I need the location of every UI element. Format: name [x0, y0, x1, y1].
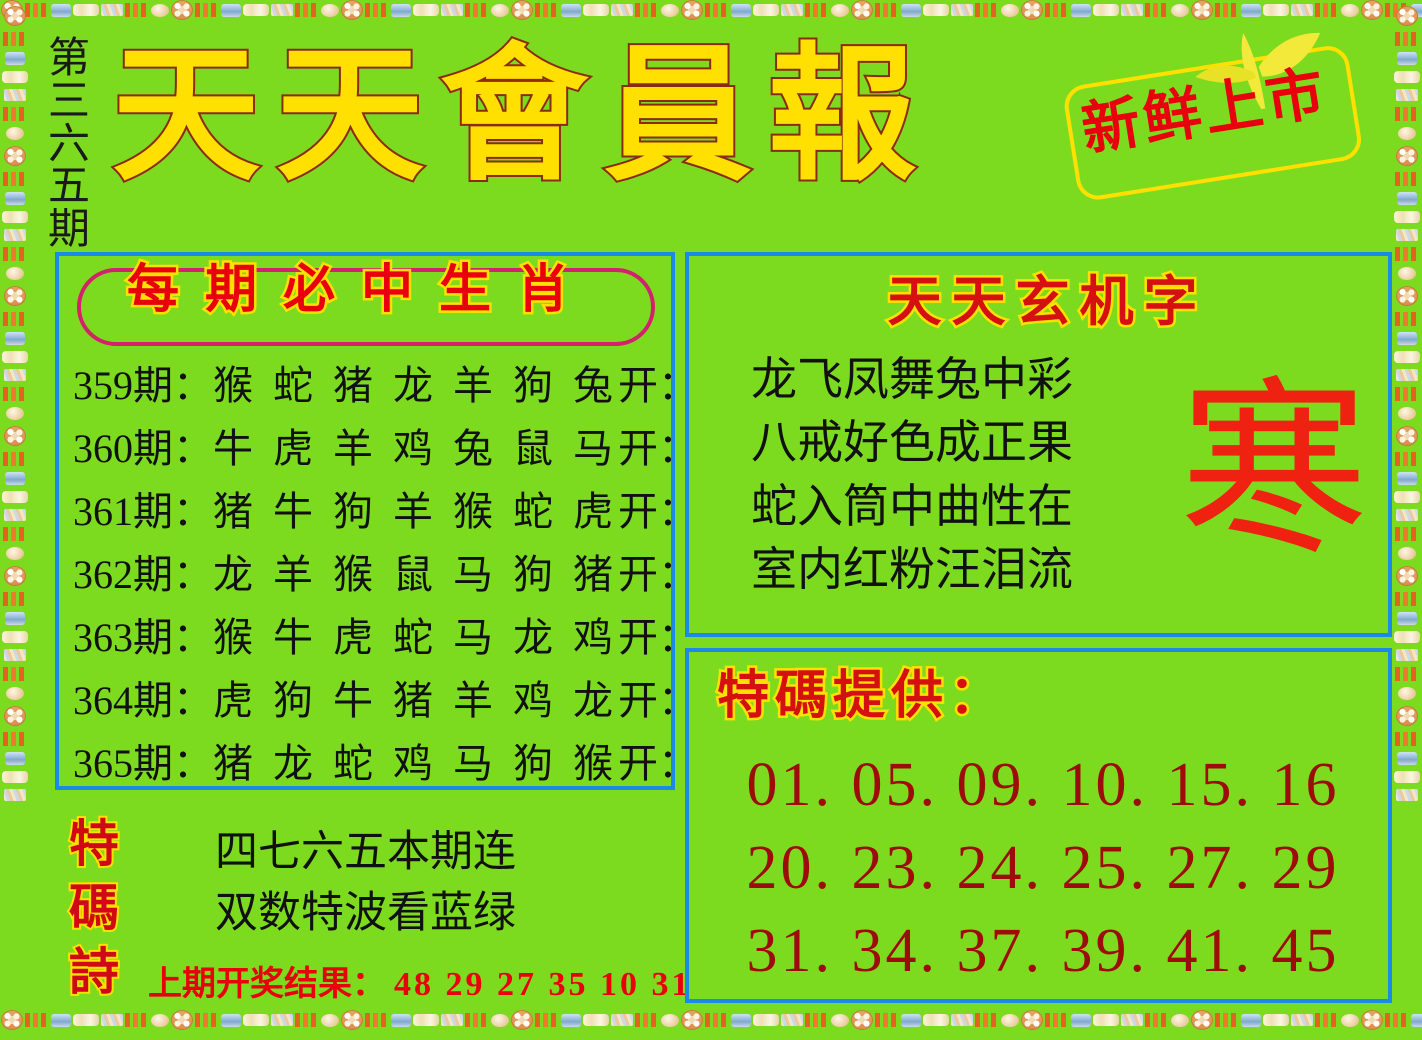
zodiac-row: 361期：猪 牛 狗 羊 猴 蛇 虎 开：	[73, 480, 667, 543]
border-bead	[1291, 4, 1313, 16]
border-bead	[851, 0, 873, 20]
border-bead	[1396, 706, 1418, 726]
last-draw-result-label: 上期开奖结果：	[148, 966, 386, 1003]
zodiac-row-animals: 虎 狗 牛 猪 羊 鸡 龙	[213, 669, 618, 732]
border-bead	[661, 4, 679, 17]
border-bead	[4, 6, 26, 26]
border-bead	[1396, 146, 1418, 166]
border-bead	[1394, 491, 1420, 503]
border-bead	[4, 229, 26, 241]
border-bead	[1001, 4, 1019, 17]
border-bead	[1045, 3, 1069, 17]
poem-label-char-2: 詩	[58, 940, 130, 1004]
border-bead	[901, 1014, 921, 1027]
poem-label-char-0: 特	[58, 812, 130, 876]
border-bead	[561, 1014, 581, 1027]
border-bead	[1398, 407, 1416, 420]
border-bead	[1395, 32, 1419, 46]
special-number-row: 01. 05. 09. 10. 15. 16	[713, 744, 1373, 827]
zodiac-row: 364期：虎 狗 牛 猪 羊 鸡 龙 开：	[73, 669, 667, 732]
border-bead	[1121, 1014, 1143, 1026]
border-bead	[2, 631, 28, 643]
zodiac-row-animals: 牛 虎 羊 鸡 兔 鼠 马	[213, 417, 618, 480]
border-bead	[5, 52, 25, 65]
border-bead	[1396, 286, 1418, 306]
border-bead	[1398, 547, 1416, 560]
riddle-line: 室内红粉汪泪流	[751, 538, 1171, 601]
border-bead	[901, 4, 921, 17]
border-bead	[1045, 1013, 1069, 1027]
border-bead	[125, 1013, 149, 1027]
border-bead	[1395, 592, 1419, 606]
border-bead	[2, 71, 28, 83]
border-bead	[51, 4, 71, 17]
border-bead	[1263, 4, 1289, 16]
border-bead	[1397, 612, 1417, 625]
border-bead	[635, 1013, 659, 1027]
special-numbers-list: 01. 05. 09. 10. 15. 16 20. 23. 24. 25. 2…	[713, 744, 1373, 993]
border-bead	[2, 351, 28, 363]
border-bead	[1361, 1010, 1383, 1030]
border-bead	[365, 1013, 389, 1027]
border-bead	[341, 1010, 363, 1030]
zodiac-row-animals: 猴 牛 虎 蛇 马 龙 鸡	[213, 606, 618, 669]
zodiac-row-issue: 361期：	[73, 480, 213, 543]
border-bead	[3, 732, 27, 746]
border-bead	[1396, 649, 1418, 661]
border-bead	[1171, 4, 1189, 17]
border-bead	[1191, 1010, 1213, 1030]
border-bead	[1241, 4, 1261, 17]
border-bead	[731, 4, 751, 17]
poster-header: 第 三 六 五 期 天天會員報 新鲜上市	[30, 30, 1392, 245]
border-bead	[6, 267, 24, 280]
border-bead	[5, 472, 25, 485]
border-bead	[171, 1010, 193, 1030]
border-bead	[681, 0, 703, 20]
riddle-line: 龙飞凤舞兔中彩	[751, 348, 1171, 411]
border-bead	[1396, 229, 1418, 241]
border-bead	[705, 1013, 729, 1027]
border-bead	[5, 752, 25, 765]
border-bead	[1145, 3, 1169, 17]
lucky-line: 双数特波看蓝绿	[215, 883, 685, 944]
zodiac-panel-title: 每期必中生肖	[59, 264, 637, 316]
poem-label-char-1: 碼	[58, 876, 130, 940]
border-bead	[3, 527, 27, 541]
border-bead	[321, 1014, 339, 1027]
border-bead	[1395, 732, 1419, 746]
border-bead	[6, 127, 24, 140]
decorative-border-top	[0, 0, 1422, 30]
border-bead	[221, 1014, 241, 1027]
border-bead	[1171, 1014, 1189, 1027]
zodiac-panel: 每期必中生肖 359期：猴 蛇 猪 龙 羊 狗 兔 开： 360期：牛 虎 羊 …	[55, 252, 675, 790]
border-bead	[6, 407, 24, 420]
border-bead	[1396, 89, 1418, 101]
zodiac-row-animals: 猴 蛇 猪 龙 羊 狗 兔	[213, 354, 618, 417]
issue-char-3: 五	[42, 166, 96, 209]
border-bead	[1398, 687, 1416, 700]
border-bead	[1396, 369, 1418, 381]
border-bead	[1394, 211, 1420, 223]
border-bead	[491, 4, 509, 17]
border-bead	[561, 4, 581, 17]
border-bead	[221, 4, 241, 17]
border-bead	[151, 4, 169, 17]
border-bead	[1315, 3, 1339, 17]
border-bead	[781, 1014, 803, 1026]
border-bead	[3, 452, 27, 466]
zodiac-row-issue: 365期：	[73, 732, 213, 795]
decorative-border-right	[1392, 0, 1422, 1040]
border-bead	[4, 89, 26, 101]
border-bead	[1395, 312, 1419, 326]
border-bead	[151, 1014, 169, 1027]
border-bead	[101, 4, 123, 16]
special-poem-label-vertical: 特 碼 詩	[58, 812, 130, 1004]
border-bead	[535, 1013, 559, 1027]
border-bead	[4, 789, 26, 801]
special-number-row: 31. 34. 37. 39. 41. 45	[713, 910, 1373, 993]
border-bead	[1398, 127, 1416, 140]
border-bead	[4, 649, 26, 661]
border-bead	[511, 1010, 533, 1030]
border-bead	[195, 3, 219, 17]
zodiac-row-list: 359期：猴 蛇 猪 龙 羊 狗 兔 开： 360期：牛 虎 羊 鸡 兔 鼠 马…	[73, 354, 667, 795]
border-bead	[365, 3, 389, 17]
border-bead	[805, 3, 829, 17]
border-bead	[611, 1014, 633, 1026]
border-bead	[1001, 1014, 1019, 1027]
border-bead	[875, 1013, 899, 1027]
border-bead	[1395, 107, 1419, 121]
lucky-line: 四七六五本期连	[215, 822, 685, 883]
border-bead	[1396, 426, 1418, 446]
zodiac-row-issue: 363期：	[73, 606, 213, 669]
border-bead	[4, 146, 26, 166]
border-bead	[5, 332, 25, 345]
zodiac-row-issue: 364期：	[73, 669, 213, 732]
decorative-border-left	[0, 0, 30, 1040]
border-bead	[295, 1013, 319, 1027]
border-bead	[6, 687, 24, 700]
border-bead	[611, 4, 633, 16]
border-bead	[1071, 4, 1091, 17]
riddle-panel-title: 天天玄机字	[689, 274, 1396, 328]
border-bead	[51, 1014, 71, 1027]
issue-char-4: 期	[42, 209, 96, 252]
border-bead	[1263, 1014, 1289, 1026]
border-bead	[781, 4, 803, 16]
border-bead	[413, 4, 439, 16]
border-bead	[1397, 52, 1417, 65]
border-bead	[583, 1014, 609, 1026]
border-bead	[125, 3, 149, 17]
border-bead	[923, 4, 949, 16]
border-bead	[975, 1013, 999, 1027]
border-bead	[1093, 4, 1119, 16]
border-bead	[1315, 1013, 1339, 1027]
border-bead	[635, 3, 659, 17]
issue-char-1: 三	[42, 81, 96, 124]
border-bead	[271, 4, 293, 16]
border-bead	[831, 4, 849, 17]
border-bead	[1394, 631, 1420, 643]
border-bead	[1397, 192, 1417, 205]
decorative-border-bottom	[0, 1010, 1422, 1040]
border-bead	[1396, 6, 1418, 26]
zodiac-row: 363期：猴 牛 虎 蛇 马 龙 鸡 开：	[73, 606, 667, 669]
border-bead	[4, 286, 26, 306]
border-bead	[1396, 509, 1418, 521]
border-bead	[1361, 0, 1383, 20]
border-bead	[1395, 667, 1419, 681]
border-bead	[4, 426, 26, 446]
zodiac-row-issue: 360期：	[73, 417, 213, 480]
special-numbers-label: 特碼提供：	[717, 670, 1007, 722]
border-bead	[341, 0, 363, 20]
border-bead	[923, 1014, 949, 1026]
issue-char-0: 第	[42, 38, 96, 81]
border-bead	[3, 107, 27, 121]
border-bead	[3, 667, 27, 681]
border-bead	[1341, 4, 1359, 17]
zodiac-row-animals: 猪 龙 蛇 鸡 马 狗 猴	[213, 732, 618, 795]
border-bead	[1396, 789, 1418, 801]
riddle-line-list: 龙飞凤舞兔中彩 八戒好色成正果 蛇入筒中曲性在 室内红粉汪泪流	[751, 348, 1171, 602]
border-bead	[535, 3, 559, 17]
border-bead	[1093, 1014, 1119, 1026]
border-bead	[661, 1014, 679, 1027]
zodiac-row-issue: 359期：	[73, 354, 213, 417]
masthead-title: 天天會員報	[112, 40, 932, 188]
border-bead	[1395, 247, 1419, 261]
border-bead	[1397, 332, 1417, 345]
fresh-badge: 新鲜上市	[1031, 23, 1379, 213]
border-bead	[5, 612, 25, 625]
border-bead	[1394, 771, 1420, 783]
border-bead	[441, 4, 463, 16]
border-bead	[681, 1010, 703, 1030]
border-bead	[1398, 267, 1416, 280]
border-bead	[271, 1014, 293, 1026]
border-bead	[491, 1014, 509, 1027]
border-bead	[1395, 452, 1419, 466]
border-bead	[831, 1014, 849, 1027]
border-bead	[243, 1014, 269, 1026]
border-bead	[2, 771, 28, 783]
border-bead	[2, 211, 28, 223]
border-bead	[295, 3, 319, 17]
border-bead	[805, 1013, 829, 1027]
zodiac-row: 362期：龙 羊 猴 鼠 马 狗 猪 开：	[73, 543, 667, 606]
border-bead	[321, 4, 339, 17]
border-bead	[1215, 3, 1239, 17]
border-bead	[511, 0, 533, 20]
riddle-big-character: 寒	[1169, 376, 1379, 566]
border-bead	[4, 369, 26, 381]
special-numbers-panel: 特碼提供： 01. 05. 09. 10. 15. 16 20. 23. 24.…	[685, 648, 1392, 1003]
zodiac-row-issue: 362期：	[73, 543, 213, 606]
last-draw-result: 上期开奖结果：48 29 27 35 10 31+01	[148, 968, 754, 1002]
border-bead	[1394, 71, 1420, 83]
border-bead	[1395, 527, 1419, 541]
border-bead	[3, 247, 27, 261]
border-bead	[1397, 752, 1417, 765]
border-bead	[441, 1014, 463, 1026]
border-bead	[1071, 1014, 1091, 1027]
border-bead	[875, 3, 899, 17]
border-bead	[753, 1014, 779, 1026]
border-bead	[1121, 4, 1143, 16]
border-bead	[851, 1010, 873, 1030]
border-bead	[1395, 172, 1419, 186]
zodiac-row-animals: 猪 牛 狗 羊 猴 蛇 虎	[213, 480, 618, 543]
border-bead	[1145, 1013, 1169, 1027]
issue-char-2: 六	[42, 124, 96, 167]
zodiac-row: 365期：猪 龙 蛇 鸡 马 狗 猴 开：	[73, 732, 667, 795]
border-bead	[465, 1013, 489, 1027]
border-bead	[1395, 387, 1419, 401]
border-bead	[171, 0, 193, 20]
border-bead	[391, 1014, 411, 1027]
border-bead	[1394, 351, 1420, 363]
border-bead	[1291, 1014, 1313, 1026]
zodiac-row-animals: 龙 羊 猴 鼠 马 狗 猪	[213, 543, 618, 606]
border-bead	[3, 32, 27, 46]
border-bead	[1215, 1013, 1239, 1027]
border-bead	[1191, 0, 1213, 20]
lucky-lines-block: 四七六五本期连 双数特波看蓝绿	[215, 822, 685, 944]
border-bead	[3, 172, 27, 186]
border-bead	[5, 192, 25, 205]
poster-canvas: 第 三 六 五 期 天天會員報 新鲜上市 每期必中生肖 359期：猴 蛇 猪 龙…	[0, 0, 1422, 1040]
border-bead	[243, 4, 269, 16]
border-bead	[465, 3, 489, 17]
border-bead	[951, 1014, 973, 1026]
riddle-line: 八戒好色成正果	[751, 411, 1171, 474]
border-bead	[753, 4, 779, 16]
border-bead	[4, 566, 26, 586]
border-bead	[705, 3, 729, 17]
border-bead	[1241, 1014, 1261, 1027]
border-bead	[195, 1013, 219, 1027]
border-bead	[4, 509, 26, 521]
border-bead	[975, 3, 999, 17]
border-bead	[3, 312, 27, 326]
border-bead	[3, 592, 27, 606]
border-bead	[2, 491, 28, 503]
riddle-line: 蛇入筒中曲性在	[751, 475, 1171, 538]
border-bead	[6, 547, 24, 560]
border-bead	[1021, 1010, 1043, 1030]
border-bead	[101, 1014, 123, 1026]
border-bead	[951, 4, 973, 16]
border-bead	[73, 4, 99, 16]
zodiac-row: 360期：牛 虎 羊 鸡 兔 鼠 马 开：	[73, 417, 667, 480]
border-bead	[583, 4, 609, 16]
border-bead	[731, 1014, 751, 1027]
border-bead	[391, 4, 411, 17]
border-bead	[4, 706, 26, 726]
border-bead	[1396, 566, 1418, 586]
border-bead	[1341, 1014, 1359, 1027]
border-bead	[1397, 472, 1417, 485]
special-number-row: 20. 23. 24. 25. 27. 29	[713, 827, 1373, 910]
border-bead	[73, 1014, 99, 1026]
border-bead	[1021, 0, 1043, 20]
riddle-panel: 天天玄机字 龙飞凤舞兔中彩 八戒好色成正果 蛇入筒中曲性在 室内红粉汪泪流 寒	[685, 252, 1392, 637]
issue-number-vertical: 第 三 六 五 期	[42, 38, 96, 252]
border-bead	[413, 1014, 439, 1026]
border-bead	[3, 387, 27, 401]
zodiac-row: 359期：猴 蛇 猪 龙 羊 狗 兔 开：	[73, 354, 667, 417]
